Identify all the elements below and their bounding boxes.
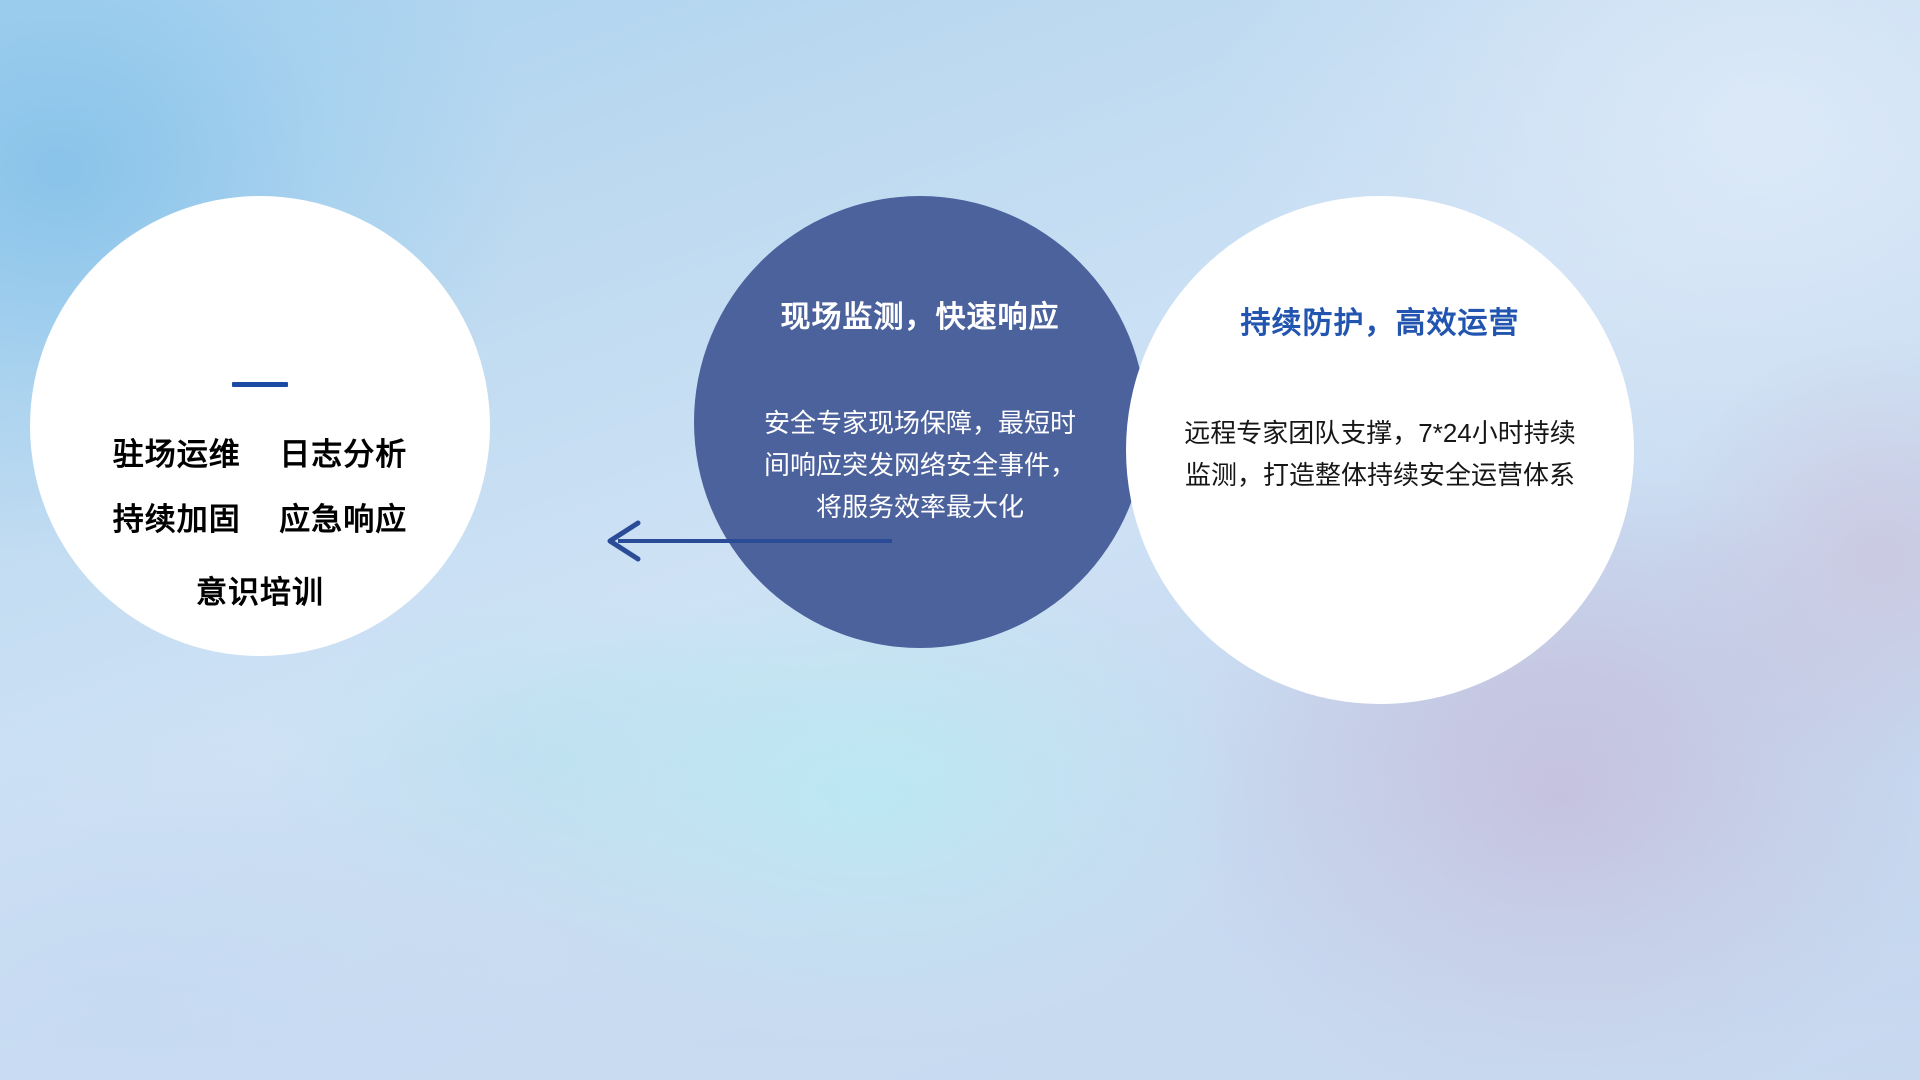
right-circle-title: 持续防护，高效运营 xyxy=(1241,306,1520,342)
left-circle-line-1: 驻场运维 日志分析 xyxy=(113,439,407,470)
middle-circle-body: 安全专家现场保障，最短时间响应突发网络安全事件，将服务效率最大化 xyxy=(763,402,1077,528)
middle-circle-title: 现场监测，快速响应 xyxy=(781,300,1060,336)
right-circle-body: 远程专家团队支撑，7*24小时持续监测，打造整体持续安全运营体系 xyxy=(1181,412,1579,496)
left-circle-line-3: 意识培训 xyxy=(196,577,324,608)
right-circle-content: 持续防护，高效运营 远程专家团队支撑，7*24小时持续监测，打造整体持续安全运营… xyxy=(1126,196,1634,704)
left-circle-content: 驻场运维 日志分析 持续加固 应急响应 意识培训 xyxy=(30,196,490,656)
divider-rule-icon xyxy=(232,382,288,387)
left-circle-line-2: 持续加固 应急响应 xyxy=(113,504,407,535)
slide-canvas: 驻场运维 日志分析 持续加固 应急响应 意识培训 现场监测，快速响应 安全专家现… xyxy=(0,0,1920,1080)
middle-circle-content: 现场监测，快速响应 安全专家现场保障，最短时间响应突发网络安全事件，将服务效率最… xyxy=(694,196,1146,648)
